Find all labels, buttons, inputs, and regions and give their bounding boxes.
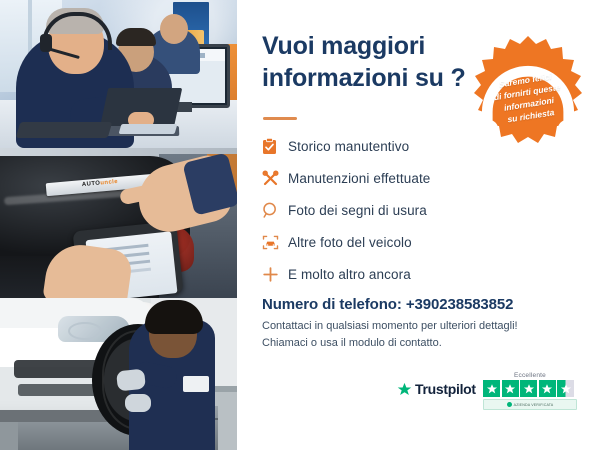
mechanic-wheel-service-photo bbox=[0, 298, 237, 450]
list-item-label: Storico manutentivo bbox=[288, 139, 409, 154]
page-title: Vuoi maggiori informazioni su ? bbox=[262, 30, 492, 94]
clipboard-check-icon bbox=[262, 135, 288, 157]
star-filled-icon bbox=[520, 380, 537, 397]
title-underline-divider bbox=[263, 117, 297, 120]
verified-company-badge: AZIENDA VERIFICATA bbox=[483, 399, 577, 410]
call-center-agents-photo bbox=[0, 0, 237, 148]
trustpilot-star-icon bbox=[397, 382, 412, 397]
mechanic-hair-decor bbox=[145, 300, 203, 334]
trustpilot-stars bbox=[483, 380, 577, 397]
star-filled-icon bbox=[539, 380, 556, 397]
plus-icon bbox=[262, 263, 288, 285]
second-agent-hair-decor bbox=[116, 28, 156, 46]
verified-company-label: AZIENDA VERIFICATA bbox=[514, 403, 554, 407]
content-panel: Vuoi maggiori informazioni su ? Saremo f… bbox=[237, 0, 600, 450]
list-item: E molto altro ancora bbox=[262, 260, 592, 288]
phone-line: Numero di telefono: +390238583852 bbox=[262, 296, 513, 313]
background-agent-head-decor bbox=[160, 14, 188, 44]
star-half-icon bbox=[557, 380, 574, 397]
photo-column: AUTOuncle bbox=[0, 0, 237, 450]
mechanic-second-glove-decor bbox=[125, 394, 151, 412]
keyboard-decor bbox=[16, 122, 113, 138]
star-filled-icon bbox=[502, 380, 519, 397]
contact-subtext-line-2: Chiamaci o usa il modulo di contatto. bbox=[262, 337, 442, 349]
advertisement-banner: AUTOuncle Vuoi maggiori info bbox=[0, 0, 600, 450]
list-item-label: E molto altro ancora bbox=[288, 267, 411, 282]
trustpilot-widget[interactable]: Trustpilot Eccellente AZIENDA VERIFICATA bbox=[397, 372, 577, 416]
list-item: Storico manutentivo bbox=[262, 132, 592, 160]
feature-list: Storico manutentivo Manutenzioni effettu… bbox=[262, 132, 592, 292]
mechanic-glove-decor bbox=[116, 369, 146, 392]
list-item-label: Manutenzioni effettuate bbox=[288, 171, 430, 186]
crossed-tools-icon bbox=[262, 167, 288, 189]
list-item: Foto dei segni di usura bbox=[262, 196, 592, 224]
callout-badge: Saremo felici di fornirti queste informa… bbox=[472, 34, 584, 146]
car-focus-icon bbox=[262, 231, 288, 253]
star-filled-icon bbox=[483, 380, 500, 397]
list-item: Manutenzioni effettuate bbox=[262, 164, 592, 192]
second-keyboard-decor bbox=[119, 124, 178, 134]
trustpilot-logo: Trustpilot bbox=[397, 381, 476, 397]
list-item-label: Foto dei segni di usura bbox=[288, 203, 427, 218]
trustpilot-rating-label: Eccellente bbox=[483, 372, 577, 379]
list-item: Altre foto del veicolo bbox=[262, 228, 592, 256]
trustpilot-name: Trustpilot bbox=[415, 381, 476, 397]
list-item-label: Altre foto del veicolo bbox=[288, 235, 412, 250]
verified-check-icon bbox=[507, 402, 512, 407]
vehicle-inspection-tablet-photo: AUTOuncle bbox=[0, 148, 237, 298]
magnifier-icon bbox=[262, 199, 288, 221]
contact-subtext-line-1: Contattaci in qualsiasi momento per ulte… bbox=[262, 320, 518, 332]
trustpilot-rating: Eccellente AZIENDA VERIFICATA bbox=[483, 372, 577, 410]
